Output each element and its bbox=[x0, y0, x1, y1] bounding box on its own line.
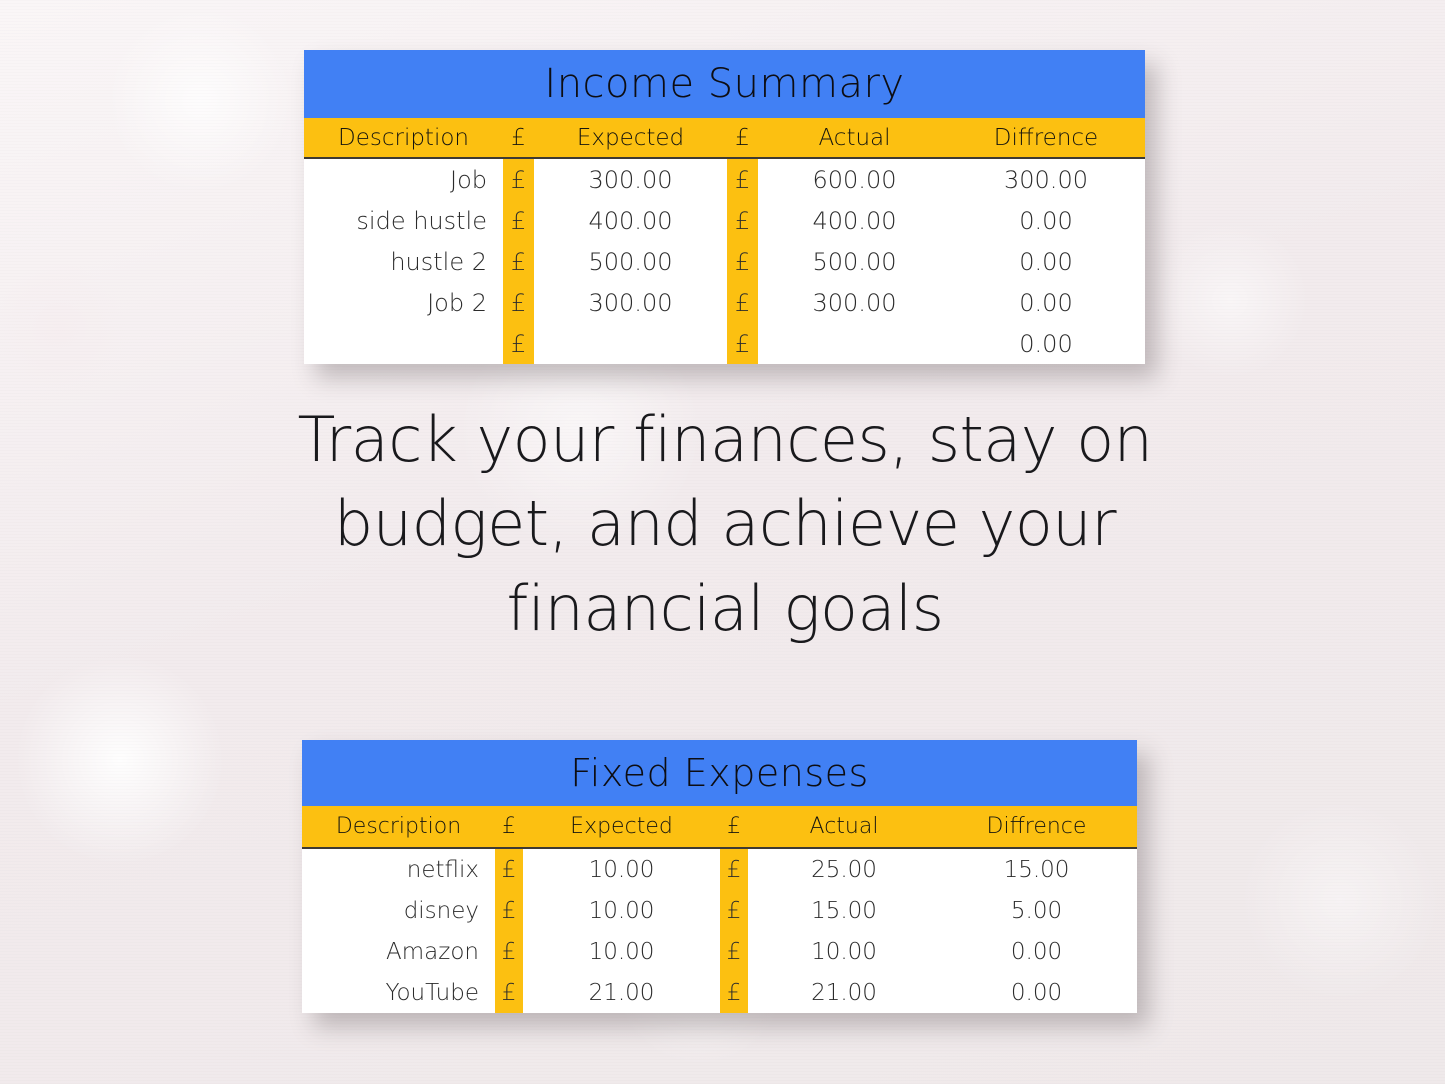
income-summary-title: Income Summary bbox=[304, 50, 1145, 118]
income-cell-currency-expected[interactable]: £ bbox=[503, 159, 534, 200]
expenses-cell-expected[interactable]: 10.00 bbox=[523, 890, 720, 931]
expenses-cell-difference-text: 0.00 bbox=[1011, 980, 1062, 1006]
income-cell-difference-text: 0.00 bbox=[1019, 207, 1072, 235]
income-cell-currency-expected-text: £ bbox=[511, 330, 526, 358]
expenses-cell-actual-text: 25.00 bbox=[811, 857, 877, 883]
expenses-cell-difference-text: 0.00 bbox=[1011, 939, 1062, 965]
expenses-cell-difference[interactable]: 0.00 bbox=[940, 931, 1137, 972]
income-cell-expected-text: 300.00 bbox=[589, 166, 673, 194]
expenses-cell-currency-expected-text: £ bbox=[502, 980, 517, 1006]
table-row[interactable]: hustle 2£500.00£500.000.00 bbox=[304, 241, 1145, 282]
income-cell-difference[interactable]: 0.00 bbox=[951, 200, 1145, 241]
expenses-cell-currency-expected-text: £ bbox=[502, 898, 517, 924]
income-cell-difference[interactable]: 0.00 bbox=[951, 241, 1145, 282]
expenses-cell-actual-text: 21.00 bbox=[811, 980, 877, 1006]
expenses-cell-description-text: netflix bbox=[407, 857, 479, 883]
income-summary-table: Income Summary Description £ Expected £ … bbox=[304, 50, 1145, 364]
expenses-cell-expected-text: 10.00 bbox=[589, 898, 655, 924]
expenses-cell-currency-actual-text: £ bbox=[727, 898, 742, 924]
income-cell-expected[interactable]: 300.00 bbox=[534, 282, 727, 323]
income-cell-description-text: hustle 2 bbox=[390, 248, 487, 276]
table-row[interactable]: disney£10.00£15.005.00 bbox=[302, 890, 1137, 931]
income-cell-actual[interactable] bbox=[758, 323, 951, 364]
expenses-cell-description[interactable]: netflix bbox=[302, 849, 495, 890]
income-cell-description[interactable] bbox=[304, 323, 503, 364]
income-cell-currency-actual[interactable]: £ bbox=[727, 159, 758, 200]
income-cell-currency-actual[interactable]: £ bbox=[727, 241, 758, 282]
fixed-expenses-body: netflix£10.00£25.0015.00disney£10.00£15.… bbox=[302, 849, 1137, 1013]
expenses-cell-difference-text: 15.00 bbox=[1004, 857, 1070, 883]
table-row[interactable]: ££0.00 bbox=[304, 323, 1145, 364]
income-header-description: Description bbox=[304, 125, 503, 151]
income-cell-description-text: Job 2 bbox=[427, 289, 487, 317]
income-cell-description[interactable]: side hustle bbox=[304, 200, 503, 241]
fixed-expenses-title: Fixed Expenses bbox=[302, 740, 1137, 806]
income-cell-actual[interactable]: 400.00 bbox=[758, 200, 951, 241]
expenses-cell-description-text: disney bbox=[404, 898, 479, 924]
expenses-cell-actual[interactable]: 21.00 bbox=[748, 972, 940, 1013]
expenses-cell-currency-expected-text: £ bbox=[502, 939, 517, 965]
expenses-header-currency-expected: £ bbox=[495, 814, 523, 839]
expenses-cell-actual[interactable]: 15.00 bbox=[748, 890, 940, 931]
tagline-line-1: Track your finances, stay on bbox=[280, 398, 1170, 482]
income-cell-currency-actual-text: £ bbox=[735, 248, 750, 276]
table-row[interactable]: Job£300.00£600.00300.00 bbox=[304, 159, 1145, 200]
fixed-expenses-header-row: Description £ Expected £ Actual Diffrenc… bbox=[302, 806, 1137, 849]
income-cell-difference[interactable]: 300.00 bbox=[951, 159, 1145, 200]
income-cell-description[interactable]: hustle 2 bbox=[304, 241, 503, 282]
income-cell-description[interactable]: Job 2 bbox=[304, 282, 503, 323]
income-cell-currency-actual-text: £ bbox=[735, 207, 750, 235]
table-row[interactable]: netflix£10.00£25.0015.00 bbox=[302, 849, 1137, 890]
expenses-cell-expected[interactable]: 21.00 bbox=[523, 972, 720, 1013]
income-cell-actual[interactable]: 600.00 bbox=[758, 159, 951, 200]
income-cell-currency-actual-text: £ bbox=[735, 166, 750, 194]
income-cell-currency-actual[interactable]: £ bbox=[727, 200, 758, 241]
expenses-cell-difference-text: 5.00 bbox=[1011, 898, 1062, 924]
income-cell-currency-expected[interactable]: £ bbox=[503, 200, 534, 241]
expenses-header-currency-actual: £ bbox=[720, 814, 748, 839]
expenses-cell-expected[interactable]: 10.00 bbox=[523, 849, 720, 890]
income-cell-description[interactable]: Job bbox=[304, 159, 503, 200]
expenses-cell-currency-actual-text: £ bbox=[727, 939, 742, 965]
expenses-header-difference: Diffrence bbox=[940, 814, 1137, 839]
income-cell-currency-actual[interactable]: £ bbox=[727, 323, 758, 364]
income-cell-description-text: Job bbox=[450, 166, 487, 194]
expenses-cell-actual[interactable]: 10.00 bbox=[748, 931, 940, 972]
income-cell-currency-expected[interactable]: £ bbox=[503, 323, 534, 364]
income-header-currency-expected: £ bbox=[503, 125, 534, 151]
income-cell-difference-text: 0.00 bbox=[1019, 289, 1072, 317]
table-row[interactable]: side hustle£400.00£400.000.00 bbox=[304, 200, 1145, 241]
expenses-cell-expected[interactable]: 10.00 bbox=[523, 931, 720, 972]
expenses-header-expected: Expected bbox=[523, 814, 720, 839]
expenses-cell-expected-text: 21.00 bbox=[589, 980, 655, 1006]
income-cell-actual-text: 300.00 bbox=[813, 289, 897, 317]
income-cell-actual-text: 600.00 bbox=[813, 166, 897, 194]
income-cell-expected[interactable]: 500.00 bbox=[534, 241, 727, 282]
expenses-cell-description-text: YouTube bbox=[385, 980, 479, 1006]
expenses-cell-currency-expected[interactable]: £ bbox=[495, 849, 523, 890]
expenses-cell-difference[interactable]: 5.00 bbox=[940, 890, 1137, 931]
income-cell-currency-expected-text: £ bbox=[511, 248, 526, 276]
income-cell-currency-expected-text: £ bbox=[511, 207, 526, 235]
income-summary-header-row: Description £ Expected £ Actual Diffrenc… bbox=[304, 118, 1145, 159]
income-cell-actual[interactable]: 300.00 bbox=[758, 282, 951, 323]
income-cell-currency-actual[interactable]: £ bbox=[727, 282, 758, 323]
tagline-line-3: financial goals bbox=[280, 567, 1170, 651]
expenses-header-description: Description bbox=[302, 814, 495, 839]
income-cell-expected-text: 400.00 bbox=[589, 207, 673, 235]
income-cell-currency-expected[interactable]: £ bbox=[503, 282, 534, 323]
slide-canvas: Income Summary Description £ Expected £ … bbox=[0, 0, 1445, 1084]
income-cell-expected[interactable] bbox=[534, 323, 727, 364]
income-header-actual: Actual bbox=[758, 125, 951, 151]
expenses-cell-actual-text: 10.00 bbox=[811, 939, 877, 965]
income-header-expected: Expected bbox=[534, 125, 727, 151]
expenses-cell-currency-actual[interactable]: £ bbox=[720, 849, 748, 890]
expenses-cell-expected-text: 10.00 bbox=[589, 857, 655, 883]
income-cell-description-text: side hustle bbox=[356, 207, 487, 235]
expenses-cell-expected-text: 10.00 bbox=[589, 939, 655, 965]
expenses-cell-currency-actual[interactable]: £ bbox=[720, 890, 748, 931]
income-cell-expected[interactable]: 300.00 bbox=[534, 159, 727, 200]
expenses-cell-currency-expected[interactable]: £ bbox=[495, 972, 523, 1013]
expenses-cell-actual[interactable]: 25.00 bbox=[748, 849, 940, 890]
expenses-cell-description[interactable]: Amazon bbox=[302, 931, 495, 972]
table-row[interactable]: Amazon£10.00£10.000.00 bbox=[302, 931, 1137, 972]
expenses-cell-description-text: Amazon bbox=[386, 939, 479, 965]
income-cell-difference[interactable]: 0.00 bbox=[951, 282, 1145, 323]
income-summary-body: Job£300.00£600.00300.00side hustle£400.0… bbox=[304, 159, 1145, 364]
income-cell-currency-expected[interactable]: £ bbox=[503, 241, 534, 282]
income-cell-currency-actual-text: £ bbox=[735, 330, 750, 358]
expenses-cell-currency-actual-text: £ bbox=[727, 857, 742, 883]
expenses-cell-difference[interactable]: 15.00 bbox=[940, 849, 1137, 890]
income-cell-currency-expected-text: £ bbox=[511, 289, 526, 317]
income-cell-actual-text: 500.00 bbox=[813, 248, 897, 276]
expenses-cell-description[interactable]: disney bbox=[302, 890, 495, 931]
tagline-line-2: budget, and achieve your bbox=[280, 482, 1170, 566]
income-cell-actual-text: 400.00 bbox=[813, 207, 897, 235]
income-cell-difference-text: 0.00 bbox=[1019, 330, 1072, 358]
expenses-cell-currency-actual[interactable]: £ bbox=[720, 931, 748, 972]
table-row[interactable]: YouTube£21.00£21.000.00 bbox=[302, 972, 1137, 1013]
table-row[interactable]: Job 2£300.00£300.000.00 bbox=[304, 282, 1145, 323]
expenses-cell-description[interactable]: YouTube bbox=[302, 972, 495, 1013]
expenses-header-actual: Actual bbox=[748, 814, 940, 839]
income-header-difference: Diffrence bbox=[951, 125, 1145, 151]
expenses-cell-currency-actual-text: £ bbox=[727, 980, 742, 1006]
income-cell-currency-actual-text: £ bbox=[735, 289, 750, 317]
income-cell-expected-text: 500.00 bbox=[589, 248, 673, 276]
income-cell-difference-text: 0.00 bbox=[1019, 248, 1072, 276]
expenses-cell-currency-expected[interactable]: £ bbox=[495, 890, 523, 931]
expenses-cell-currency-expected-text: £ bbox=[502, 857, 517, 883]
income-cell-expected-text: 300.00 bbox=[589, 289, 673, 317]
income-cell-currency-expected-text: £ bbox=[511, 166, 526, 194]
expenses-cell-currency-actual[interactable]: £ bbox=[720, 972, 748, 1013]
income-header-currency-actual: £ bbox=[727, 125, 758, 151]
income-cell-actual[interactable]: 500.00 bbox=[758, 241, 951, 282]
fixed-expenses-table: Fixed Expenses Description £ Expected £ … bbox=[302, 740, 1137, 1013]
income-cell-difference-text: 300.00 bbox=[1004, 166, 1088, 194]
income-cell-expected[interactable]: 400.00 bbox=[534, 200, 727, 241]
expenses-cell-actual-text: 15.00 bbox=[811, 898, 877, 924]
expenses-cell-currency-expected[interactable]: £ bbox=[495, 931, 523, 972]
income-cell-difference[interactable]: 0.00 bbox=[951, 323, 1145, 364]
expenses-cell-difference[interactable]: 0.00 bbox=[940, 972, 1137, 1013]
promo-tagline: Track your finances, stay on budget, and… bbox=[280, 398, 1170, 651]
